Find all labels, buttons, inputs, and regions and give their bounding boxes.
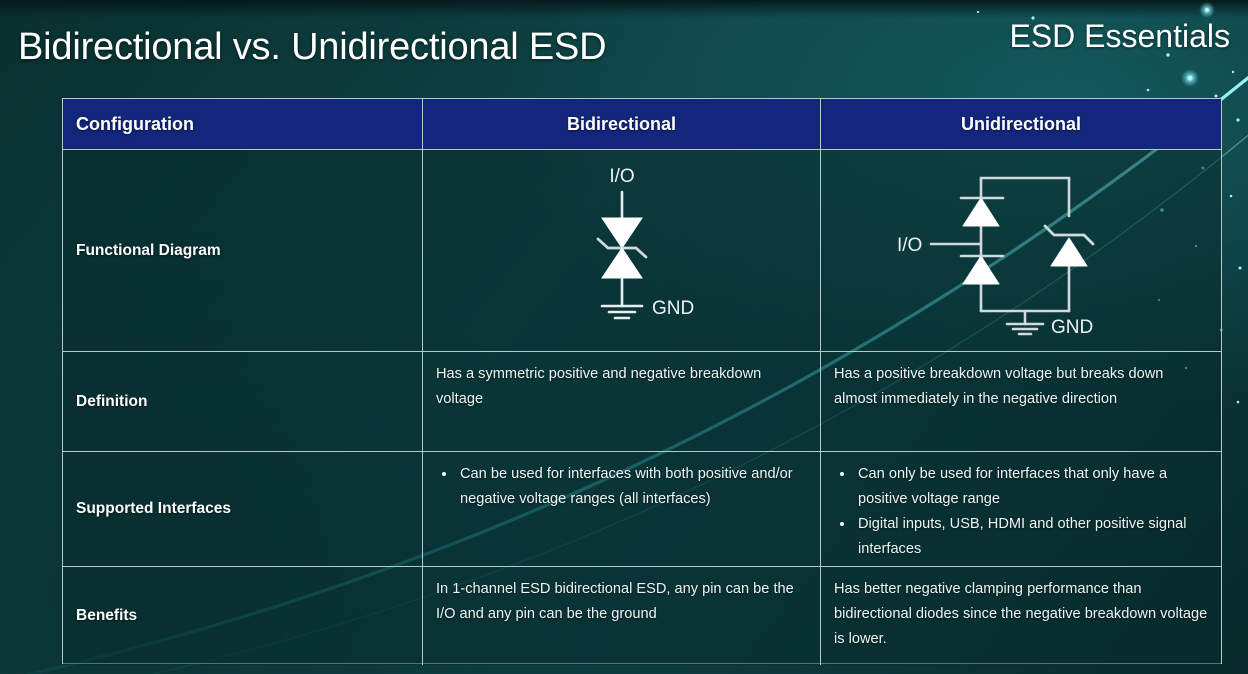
comparison-table: Configuration Bidirectional Unidirection… [62,98,1222,664]
unidirectional-io-label: I/O [897,235,922,256]
interfaces-bidirectional-cell: Can be used for interfaces with both pos… [423,451,821,566]
header-label-bidirectional: Bidirectional [567,114,676,135]
row-label-supported-interfaces: Supported Interfaces [63,451,423,566]
table-header-cell-unidirectional: Unidirectional [821,99,1221,149]
unidirectional-gnd-label: GND [1051,317,1093,338]
benefits-unidirectional-cell: Has better negative clamping performance… [821,566,1221,665]
benefits-bidirectional-text: In 1-channel ESD bidirectional ESD, any … [436,577,807,627]
benefits-unidirectional-text: Has better negative clamping performance… [834,577,1208,652]
row-label-benefits: Benefits [63,566,423,665]
table-row-supported-interfaces: Supported Interfaces Can be used for int… [63,451,1221,566]
definition-bidirectional-cell: Has a symmetric positive and negative br… [423,351,821,451]
unidirectional-esd-schematic: I/O GND [891,156,1151,346]
definition-unidirectional-text: Has a positive breakdown voltage but bre… [834,362,1208,412]
row-label-definition: Definition [63,351,423,451]
interfaces-unidirectional-list: Can only be used for interfaces that onl… [834,462,1208,562]
list-item: Can only be used for interfaces that onl… [834,462,1208,512]
list-item: Can be used for interfaces with both pos… [436,462,807,512]
interfaces-unidirectional-cell: Can only be used for interfaces that onl… [821,451,1221,566]
table-row-definition: Definition Has a symmetric positive and … [63,351,1221,451]
interfaces-bidirectional-list: Can be used for interfaces with both pos… [436,462,807,512]
bidirectional-diagram-cell: I/O GND [423,149,821,351]
header-label-configuration: Configuration [76,114,194,135]
unidirectional-diagram-cell: I/O GND [821,149,1221,351]
bidirectional-gnd-label: GND [652,298,694,319]
table-row-functional-diagram: Functional Diagram [63,149,1221,351]
header-label-unidirectional: Unidirectional [961,114,1081,135]
benefits-bidirectional-cell: In 1-channel ESD bidirectional ESD, any … [423,566,821,665]
row-label-functional-diagram: Functional Diagram [63,149,423,351]
list-item: Digital inputs, USB, HDMI and other posi… [834,512,1208,562]
bidirectional-io-label: I/O [609,166,634,187]
slide-kicker: ESD Essentials [1009,18,1230,55]
background-top-shade [0,0,1248,18]
table-header-cell-bidirectional: Bidirectional [423,99,821,149]
slide-title: Bidirectional vs. Unidirectional ESD [18,26,606,69]
definition-bidirectional-text: Has a symmetric positive and negative br… [436,362,807,412]
table-row-benefits: Benefits In 1-channel ESD bidirectional … [63,566,1221,665]
table-header-cell-configuration: Configuration [63,99,423,149]
definition-unidirectional-cell: Has a positive breakdown voltage but bre… [821,351,1221,451]
table-header-row: Configuration Bidirectional Unidirection… [63,99,1221,149]
bidirectional-tvs-diode-schematic: I/O GND [522,156,722,346]
